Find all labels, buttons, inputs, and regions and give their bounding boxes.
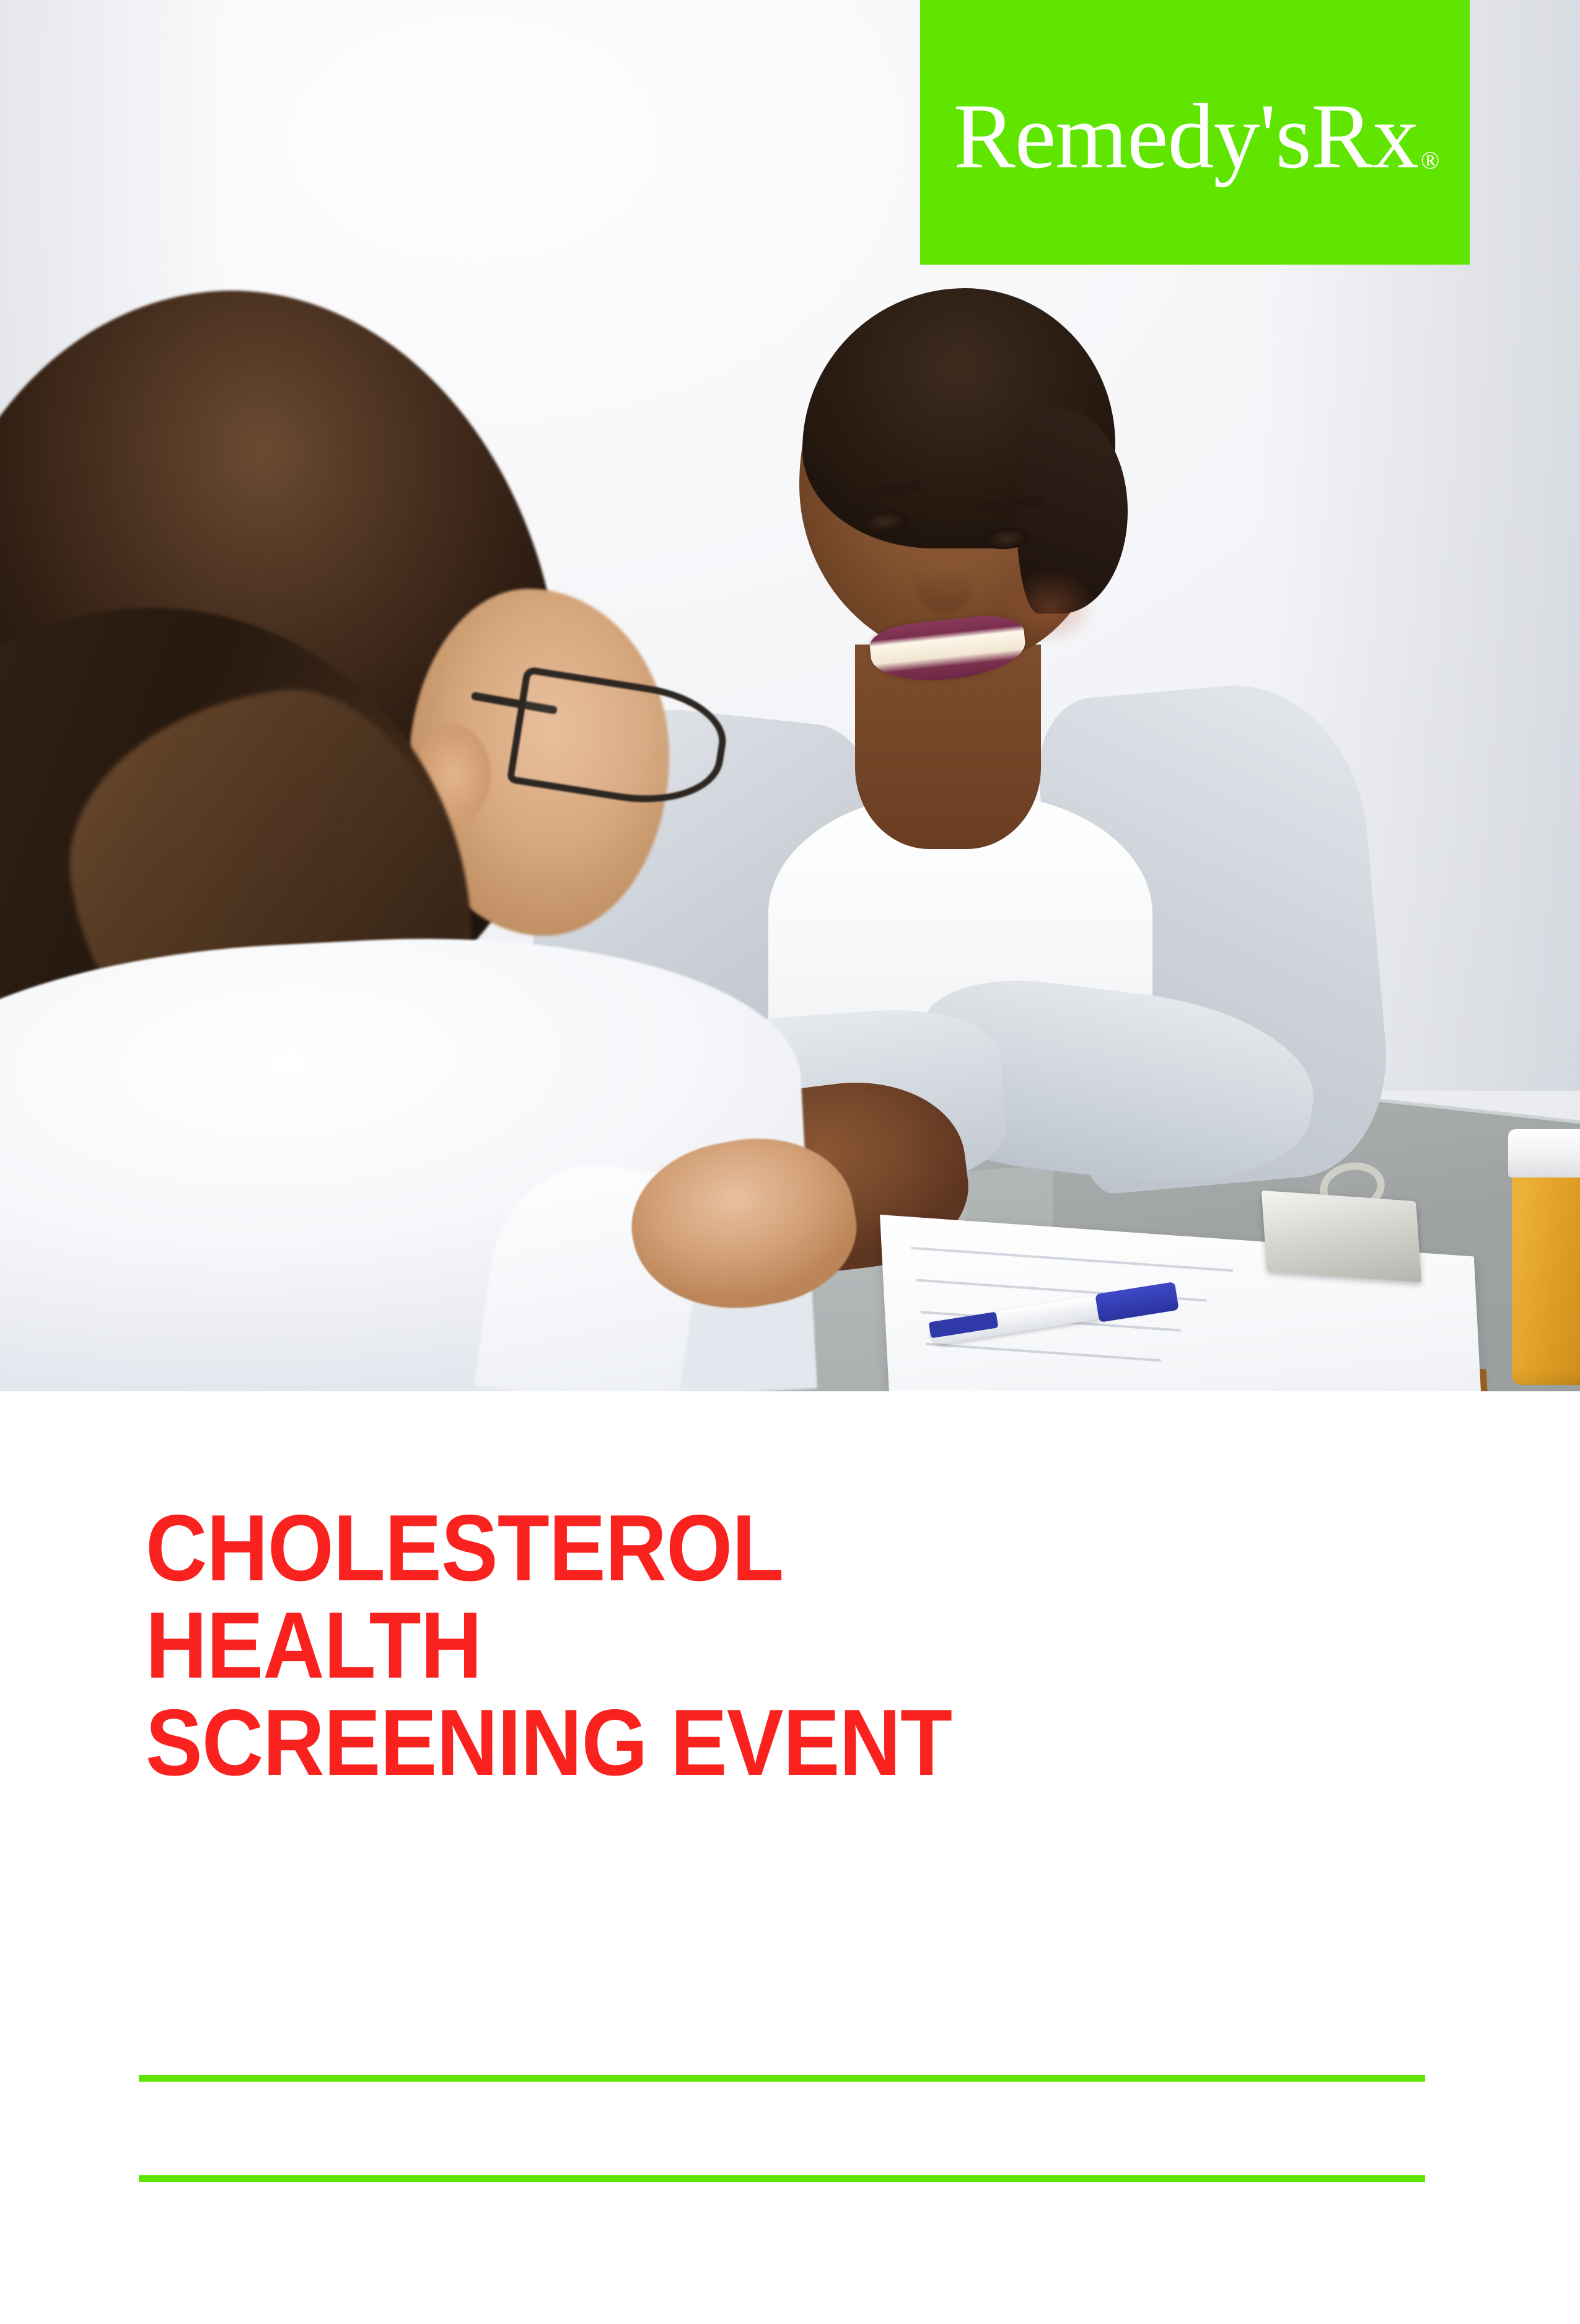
pill-bottle xyxy=(1512,1162,1580,1385)
title-line-2: HEALTH xyxy=(146,1597,1335,1694)
brand-wordmark: Remedy'sRx® xyxy=(954,90,1437,183)
pill-bottle-cap xyxy=(1508,1129,1580,1177)
divider-rule-bottom xyxy=(139,2175,1425,2182)
page-title: CHOLESTEROL HEALTH SCREENING EVENT xyxy=(146,1500,1459,1792)
registered-trademark-icon: ® xyxy=(1421,146,1439,174)
patient-nose xyxy=(916,545,973,614)
brand-name-text: Remedy'sRx xyxy=(954,85,1418,188)
poster-canvas: Remedy'sRx® CHOLESTEROL HEALTH SCREENING… xyxy=(0,0,1580,2324)
brand-logo-block[interactable]: Remedy'sRx® xyxy=(920,0,1470,265)
divider-rule-top xyxy=(139,2075,1425,2082)
title-line-1: CHOLESTEROL xyxy=(146,1500,1335,1597)
clipboard-clip xyxy=(1262,1191,1421,1283)
title-line-3: SCREENING EVENT xyxy=(146,1694,1335,1792)
